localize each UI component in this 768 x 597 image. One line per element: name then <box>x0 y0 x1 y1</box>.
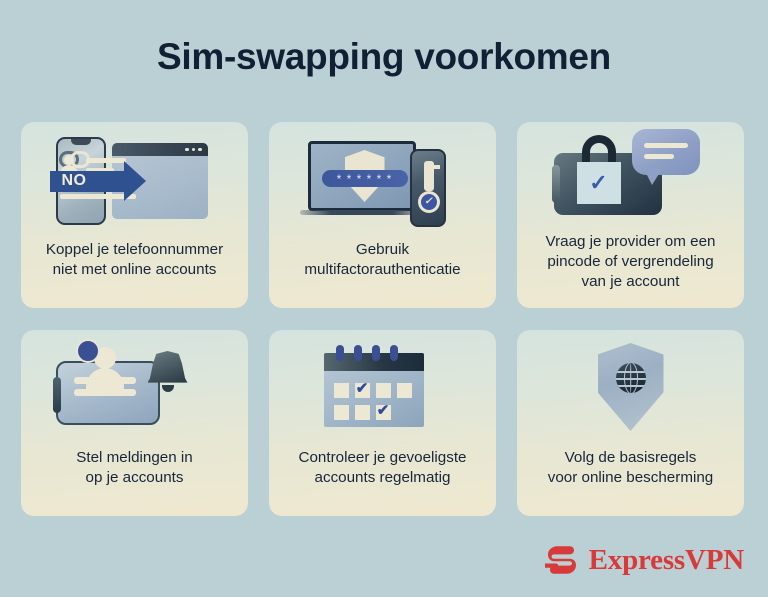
password-field-icon: * * * * * * <box>322 170 408 187</box>
calendar-check-icon: ✔ <box>355 381 370 396</box>
calendar-cell <box>376 383 391 398</box>
tip-text-line: Stel meldingen in <box>76 448 193 468</box>
laptop-screen-icon: * * * * * * <box>308 141 416 211</box>
tip-card-5: ✔ ✔ Controleer je gevoeligste accounts r… <box>269 330 496 516</box>
tip-text-line: accounts regelmatig <box>298 468 466 488</box>
key-icon <box>424 161 434 191</box>
content-line <box>74 389 136 396</box>
blocked-arrow-head <box>124 161 146 201</box>
tip-text-line: Gebruik <box>304 240 460 260</box>
tip-card-6: Volg de basisregels voor online bescherm… <box>517 330 744 516</box>
calendar-checkmarks-icon: ✔ ✔ <box>269 330 496 448</box>
shield-globe-icon <box>517 330 744 448</box>
tip-text-line: Koppel je telefoonnummer <box>46 240 223 260</box>
padlock-body-icon: ✓ <box>577 162 621 204</box>
calendar-ring <box>336 345 344 361</box>
calendar-cell <box>355 405 370 420</box>
expressvpn-e-mark-icon <box>542 541 580 579</box>
no-label: NO <box>62 170 122 192</box>
tip-card-2-text: Gebruik multifactorauthenticatie <box>294 240 470 280</box>
tip-card-3-text: Vraag je provider om een pincode of verg… <box>536 232 726 292</box>
calendar-cell <box>334 383 349 398</box>
tip-text-line: voor online bescherming <box>548 468 713 488</box>
id-card-notification-bell-icon <box>21 330 248 448</box>
calendar-ring <box>390 345 398 361</box>
speech-bubble-icon <box>632 129 700 175</box>
tip-card-1: NO Koppel je telefoonnummer niet met onl… <box>21 122 248 308</box>
phone-notch <box>71 139 91 145</box>
tip-card-4: Stel meldingen in op je accounts <box>21 330 248 516</box>
notification-badge-icon <box>76 339 100 363</box>
tip-text-line: niet met online accounts <box>46 260 223 280</box>
globe-icon <box>616 363 646 393</box>
bubble-line <box>644 154 674 159</box>
tips-grid: NO Koppel je telefoonnummer niet met onl… <box>21 122 748 516</box>
laptop-shield-password-phone-key-icon: * * * * * * ✓ <box>269 122 496 240</box>
check-icon: ✓ <box>421 194 437 210</box>
tip-text-line: pincode of vergrendeling <box>546 252 716 272</box>
calendar-cell <box>397 383 412 398</box>
tip-card-6-text: Volg de basisregels voor online bescherm… <box>538 448 723 488</box>
calendar-check-icon: ✔ <box>376 403 391 418</box>
tip-text-line: van je account <box>546 272 716 292</box>
brand-name: ExpressVPN <box>589 544 744 577</box>
infographic-page: Sim-swapping voorkomen <box>0 0 768 597</box>
tip-text-line: Controleer je gevoeligste <box>298 448 466 468</box>
brand-logo: ExpressVPN <box>542 541 744 579</box>
tip-text-line: Volg de basisregels <box>548 448 713 468</box>
tip-text-line: multifactorauthenticatie <box>304 260 460 280</box>
tip-card-3: ✓ Vraag je provider om een pincode of ve… <box>517 122 744 308</box>
bubble-line <box>644 143 688 148</box>
tip-card-1-text: Koppel je telefoonnummer niet met online… <box>36 240 233 280</box>
browser-title-bar <box>112 143 208 156</box>
phone-authenticator-icon: ✓ <box>410 149 446 227</box>
calendar-ring <box>354 345 362 361</box>
calendar-body-icon: ✔ ✔ <box>324 353 424 427</box>
content-line <box>86 158 126 163</box>
laptop-base <box>300 210 424 215</box>
tip-card-5-text: Controleer je gevoeligste accounts regel… <box>288 448 476 488</box>
phone-link-blocked-icon: NO <box>21 122 248 240</box>
tip-card-2: * * * * * * ✓ Gebruik multifactorauthent… <box>269 122 496 308</box>
page-title: Sim-swapping voorkomen <box>0 36 768 78</box>
calendar-cell <box>334 405 349 420</box>
tip-card-4-text: Stel meldingen in op je accounts <box>66 448 203 488</box>
bell-icon <box>146 347 190 391</box>
verified-badge-icon: ✓ <box>418 191 440 213</box>
tip-text-line: op je accounts <box>76 468 193 488</box>
padlock-case-speech-bubble-icon: ✓ <box>517 122 744 232</box>
calendar-ring <box>372 345 380 361</box>
content-line <box>74 377 136 384</box>
tip-text-line: Vraag je provider om een <box>546 232 716 252</box>
